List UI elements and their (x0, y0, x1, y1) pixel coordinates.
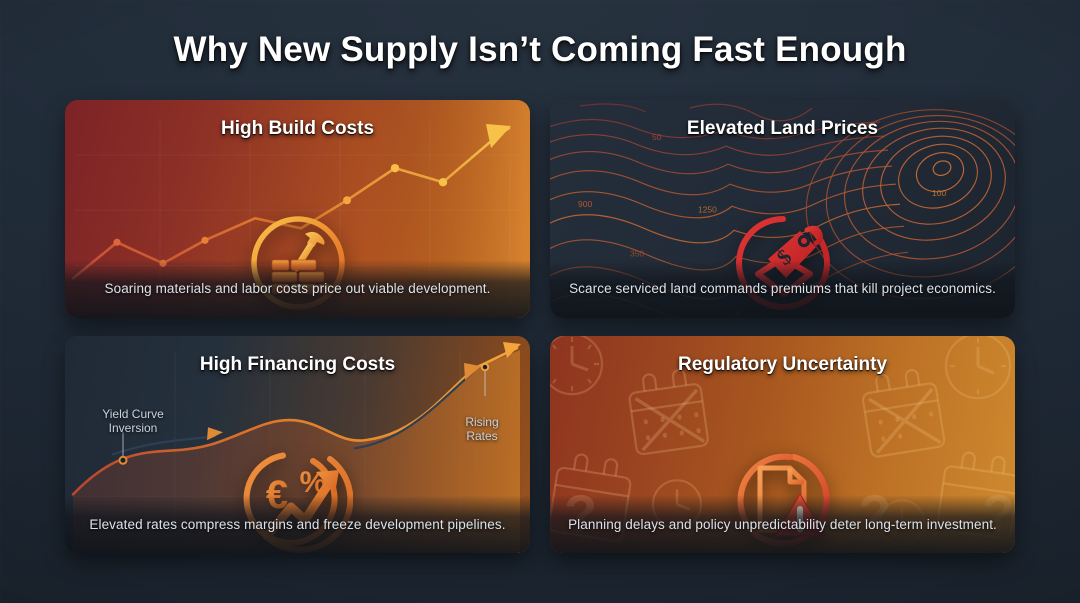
annotation-line-1: Yield Curve (87, 407, 179, 421)
card-caption: Scarce serviced land commands premiums t… (555, 281, 1010, 296)
card-title: High Build Costs (65, 118, 530, 140)
contour-label-100: 100 (932, 188, 946, 198)
page-title: Why New Supply Isn’t Coming Fast Enough (0, 30, 1080, 70)
card-caption-strip: Planning delays and policy unpredictabil… (550, 495, 1015, 553)
contour-label-900: 900 (578, 199, 592, 209)
annotation-line-1: Rising (452, 415, 512, 429)
annotation-line-2: Rates (452, 429, 512, 443)
card-title: High Financing Costs (65, 354, 530, 376)
annotation-yield-curve-inversion: Yield Curve Inversion (87, 407, 179, 435)
card-elevated-land-prices[interactable]: 50 900 1250 350 100 Elevated Land Prices (550, 100, 1015, 318)
card-grid: High Build Costs (65, 100, 1015, 553)
card-title: Regulatory Uncertainty (550, 354, 1015, 376)
card-regulatory-uncertainty[interactable]: ? ? ? Regulatory Uncertainty (550, 336, 1015, 554)
card-caption: Planning delays and policy unpredictabil… (554, 517, 1011, 532)
contour-label-350: 350 (630, 248, 644, 258)
card-caption-strip: Elevated rates compress margins and free… (65, 495, 530, 553)
card-high-financing-costs[interactable]: High Financing Costs Yield Curve Inversi… (65, 336, 530, 554)
annotation-rising-rates: Rising Rates (452, 415, 512, 443)
contour-label-1250: 1250 (698, 204, 717, 214)
card-caption-strip: Soaring materials and labor costs price … (65, 260, 530, 318)
card-caption: Soaring materials and labor costs price … (90, 281, 504, 296)
annotation-line-2: Inversion (87, 421, 179, 435)
card-caption-strip: Scarce serviced land commands premiums t… (550, 260, 1015, 318)
card-high-build-costs[interactable]: High Build Costs (65, 100, 530, 318)
card-caption: Elevated rates compress margins and free… (75, 517, 519, 532)
infographic-root: Why New Supply Isn’t Coming Fast Enough (0, 0, 1080, 603)
card-title: Elevated Land Prices (550, 118, 1015, 140)
